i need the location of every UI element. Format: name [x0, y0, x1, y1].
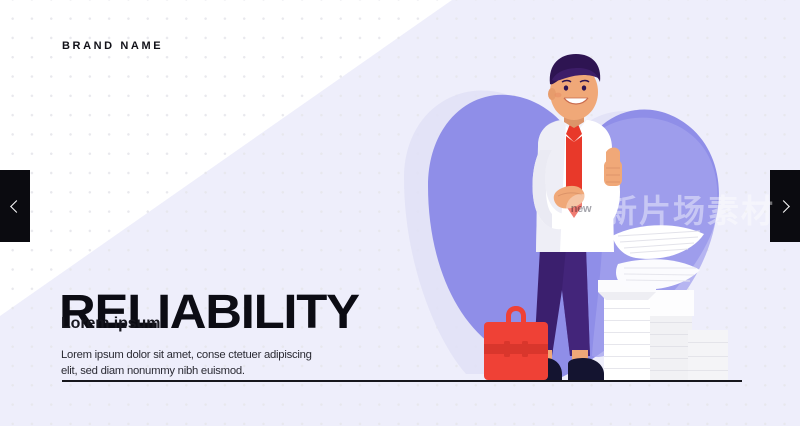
hero-banner: BRAND NAME RELIABILITY Lorem ipsum Lorem… — [0, 0, 800, 426]
carousel-next-button[interactable] — [770, 170, 800, 242]
chevron-left-icon — [10, 200, 23, 213]
body-text: Lorem ipsum dolor sit amet, conse ctetue… — [61, 348, 321, 379]
brand-name: BRAND NAME — [62, 40, 163, 52]
subheading: Lorem ipsum — [61, 315, 160, 333]
chevron-right-icon — [777, 200, 790, 213]
carousel-prev-button[interactable] — [0, 170, 30, 242]
ground-line — [62, 380, 742, 382]
